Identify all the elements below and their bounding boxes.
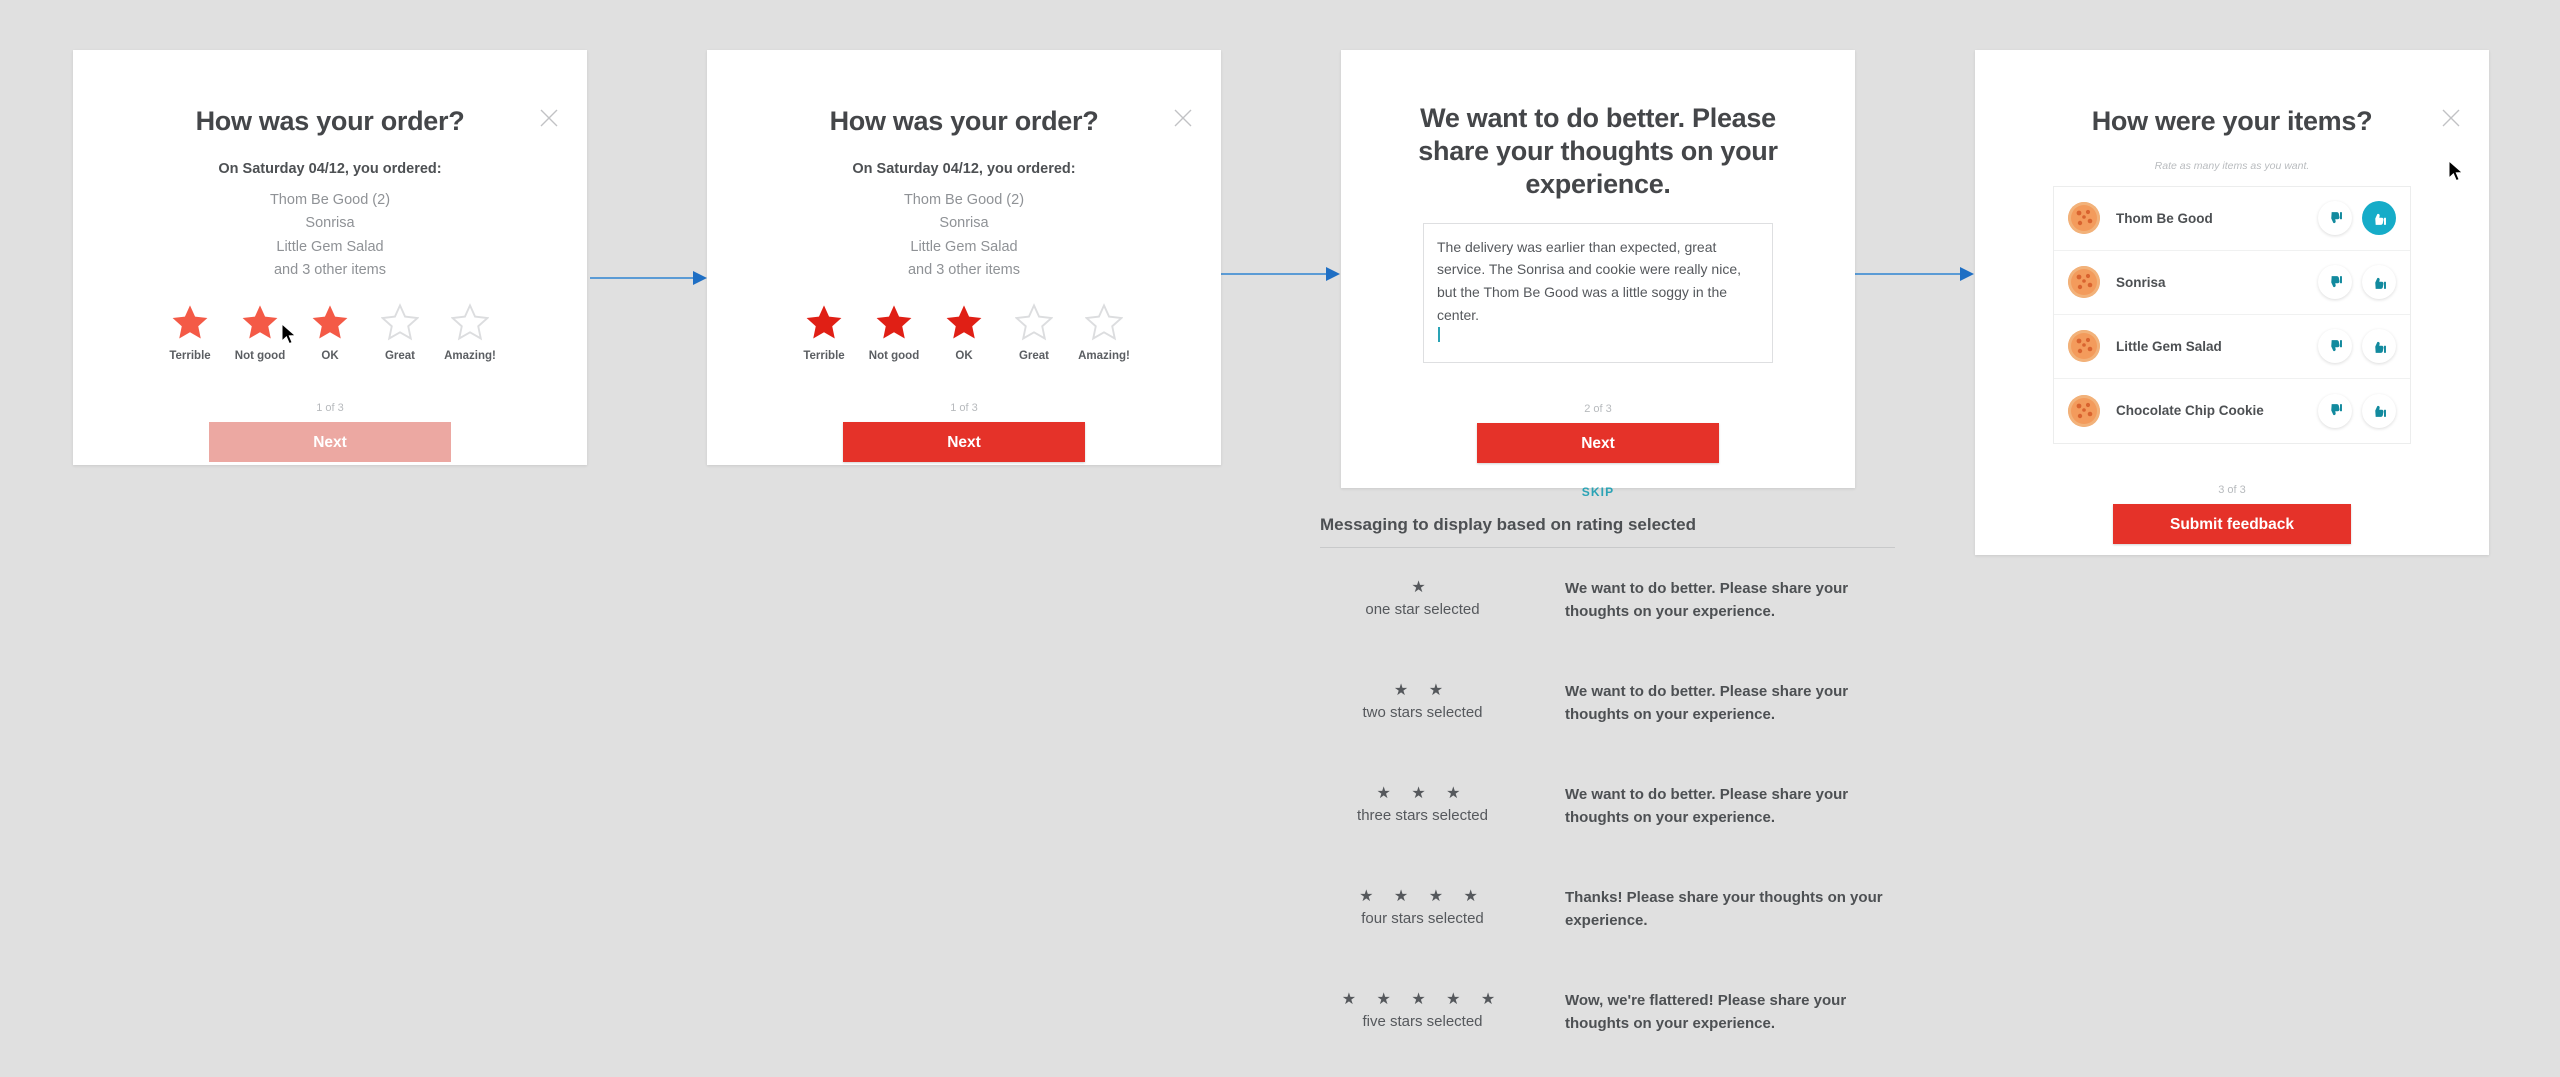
table-row: ★ ★ two stars selected We want to do bet… <box>1320 651 1895 754</box>
rating-cell: ★ ★ ★ ★ ★ five stars selected <box>1320 990 1525 1030</box>
star-icon <box>875 303 913 341</box>
messaging-table-title: Messaging to display based on rating sel… <box>1320 515 1895 547</box>
close-icon[interactable] <box>538 107 560 129</box>
pizza-thumbnail <box>2068 330 2100 362</box>
message-cell: Thanks! Please share your thoughts on yo… <box>1525 887 1895 932</box>
message-cell: We want to do better. Please share your … <box>1525 578 1895 623</box>
star-outline-icon <box>1085 303 1123 341</box>
thumbs-down-icon[interactable] <box>2318 329 2352 363</box>
message-cell: Wow, we're flattered! Please share your … <box>1525 990 1895 1035</box>
close-icon[interactable] <box>1172 107 1194 129</box>
list-item: and 3 other items <box>707 259 1221 282</box>
star-rating-group[interactable]: Terrible Not good OK Great <box>73 303 587 362</box>
star-icon <box>805 303 843 341</box>
star-icon <box>171 303 209 341</box>
star-rating-2[interactable]: Not good <box>866 303 922 362</box>
table-row: ★ one star selected We want to do better… <box>1320 548 1895 651</box>
thumbs-up-icon[interactable] <box>2362 329 2396 363</box>
text-caret <box>1438 327 1440 342</box>
next-button[interactable]: Next <box>1477 423 1719 463</box>
page-title: How was your order? <box>73 50 587 138</box>
rating-cell: ★ one star selected <box>1320 578 1525 618</box>
rating-label: five stars selected <box>1320 1013 1525 1030</box>
pizza-thumbnail <box>2068 395 2100 427</box>
item-name: Thom Be Good <box>2116 211 2308 226</box>
order-item-list: Thom Be Good (2) Sonrisa Little Gem Sala… <box>707 189 1221 283</box>
card-rating-empty: How was your order? On Saturday 04/12, y… <box>73 50 587 465</box>
pagination-indicator: 2 of 3 <box>1341 403 1855 415</box>
table-row: ★ ★ ★ three stars selected We want to do… <box>1320 754 1895 857</box>
star-rating-4[interactable]: Great <box>1006 303 1062 362</box>
item-name: Chocolate Chip Cookie <box>2116 403 2308 418</box>
star-rating-label: Great <box>385 350 415 362</box>
page-title: How were your items? <box>1975 50 2489 138</box>
star-outline-icon <box>1015 303 1053 341</box>
thumbs-down-icon[interactable] <box>2318 394 2352 428</box>
card-comment: We want to do better. Please share your … <box>1341 50 1855 488</box>
list-item: Sonrisa <box>707 212 1221 235</box>
list-item: Little Gem Salad <box>707 236 1221 259</box>
messaging-table: Messaging to display based on rating sel… <box>1320 515 1895 1063</box>
skip-link[interactable]: SKIP <box>1341 485 1855 499</box>
star-rating-label: OK <box>955 350 972 362</box>
star-rating-label: OK <box>321 350 338 362</box>
star-rating-1[interactable]: Terrible <box>796 303 852 362</box>
rating-cell: ★ ★ two stars selected <box>1320 681 1525 721</box>
star-icon: ★ ★ ★ <box>1320 784 1525 803</box>
star-rating-label: Terrible <box>803 350 844 362</box>
star-outline-icon <box>451 303 489 341</box>
thumbs-down-icon[interactable] <box>2318 201 2352 235</box>
star-icon <box>945 303 983 341</box>
table-row: ★ ★ ★ ★ four stars selected Thanks! Plea… <box>1320 857 1895 960</box>
order-date: On Saturday 04/12, you ordered: <box>73 161 587 177</box>
thumbs-down-icon[interactable] <box>2318 265 2352 299</box>
list-item: Chocolate Chip Cookie <box>2054 379 2410 443</box>
list-item: Thom Be Good <box>2054 187 2410 251</box>
star-icon: ★ ★ ★ ★ ★ <box>1320 990 1525 1009</box>
list-item: Little Gem Salad <box>2054 315 2410 379</box>
star-rating-label: Not good <box>869 350 919 362</box>
star-rating-label: Amazing! <box>1078 350 1130 362</box>
star-rating-4[interactable]: Great <box>372 303 428 362</box>
star-icon: ★ ★ ★ ★ <box>1320 887 1525 906</box>
star-icon: ★ <box>1320 578 1525 597</box>
list-item: Sonrisa <box>2054 251 2410 315</box>
list-item: and 3 other items <box>73 259 587 282</box>
message-cell: We want to do better. Please share your … <box>1525 681 1895 726</box>
item-name: Little Gem Salad <box>2116 339 2308 354</box>
message-cell: We want to do better. Please share your … <box>1525 784 1895 829</box>
star-icon: ★ ★ <box>1320 681 1525 700</box>
star-rating-group[interactable]: Terrible Not good OK Great <box>707 303 1221 362</box>
page-title: We want to do better. Please share your … <box>1341 50 1855 201</box>
card-rating-selected: How was your order? On Saturday 04/12, y… <box>707 50 1221 465</box>
feedback-textarea[interactable]: The delivery was earlier than expected, … <box>1423 223 1773 363</box>
star-icon <box>241 303 279 341</box>
close-icon[interactable] <box>2440 107 2462 129</box>
order-date: On Saturday 04/12, you ordered: <box>707 161 1221 177</box>
card-item-ratings: How were your items? Rate as many items … <box>1975 50 2489 555</box>
list-item: Little Gem Salad <box>73 236 587 259</box>
rate-subtitle: Rate as many items as you want. <box>1975 160 2489 172</box>
star-rating-label: Amazing! <box>444 350 496 362</box>
star-rating-label: Terrible <box>169 350 210 362</box>
feedback-textarea-value: The delivery was earlier than expected, … <box>1437 236 1759 327</box>
order-item-list: Thom Be Good (2) Sonrisa Little Gem Sala… <box>73 189 587 283</box>
pizza-thumbnail <box>2068 202 2100 234</box>
star-icon <box>311 303 349 341</box>
item-rating-list: Thom Be Good <box>2053 186 2411 444</box>
rating-label: two stars selected <box>1320 704 1525 721</box>
rating-label: three stars selected <box>1320 807 1525 824</box>
rating-cell: ★ ★ ★ ★ four stars selected <box>1320 887 1525 927</box>
page-title: How was your order? <box>707 50 1221 138</box>
star-rating-1[interactable]: Terrible <box>162 303 218 362</box>
next-button[interactable]: Next <box>843 422 1085 462</box>
star-rating-3[interactable]: OK <box>936 303 992 362</box>
thumbs-up-icon[interactable] <box>2362 201 2396 235</box>
star-rating-5[interactable]: Amazing! <box>1076 303 1132 362</box>
star-rating-label: Great <box>1019 350 1049 362</box>
thumbs-up-icon[interactable] <box>2362 394 2396 428</box>
star-outline-icon <box>381 303 419 341</box>
pagination-indicator: 1 of 3 <box>707 402 1221 414</box>
list-item: Sonrisa <box>73 212 587 235</box>
star-rating-label: Not good <box>235 350 285 362</box>
pagination-indicator: 3 of 3 <box>1975 484 2489 496</box>
rating-label: one star selected <box>1320 601 1525 618</box>
flow-canvas: How was your order? On Saturday 04/12, y… <box>0 0 2560 1077</box>
item-name: Sonrisa <box>2116 275 2308 290</box>
rating-label: four stars selected <box>1320 910 1525 927</box>
submit-feedback-button[interactable]: Submit feedback <box>2113 504 2351 544</box>
next-button[interactable]: Next <box>209 422 451 462</box>
star-rating-3[interactable]: OK <box>302 303 358 362</box>
pizza-thumbnail <box>2068 266 2100 298</box>
thumbs-up-icon[interactable] <box>2362 265 2396 299</box>
list-item: Thom Be Good (2) <box>73 189 587 212</box>
table-row: ★ ★ ★ ★ ★ five stars selected Wow, we're… <box>1320 960 1895 1063</box>
pagination-indicator: 1 of 3 <box>73 402 587 414</box>
star-rating-5[interactable]: Amazing! <box>442 303 498 362</box>
list-item: Thom Be Good (2) <box>707 189 1221 212</box>
star-rating-2[interactable]: Not good <box>232 303 288 362</box>
rating-cell: ★ ★ ★ three stars selected <box>1320 784 1525 824</box>
